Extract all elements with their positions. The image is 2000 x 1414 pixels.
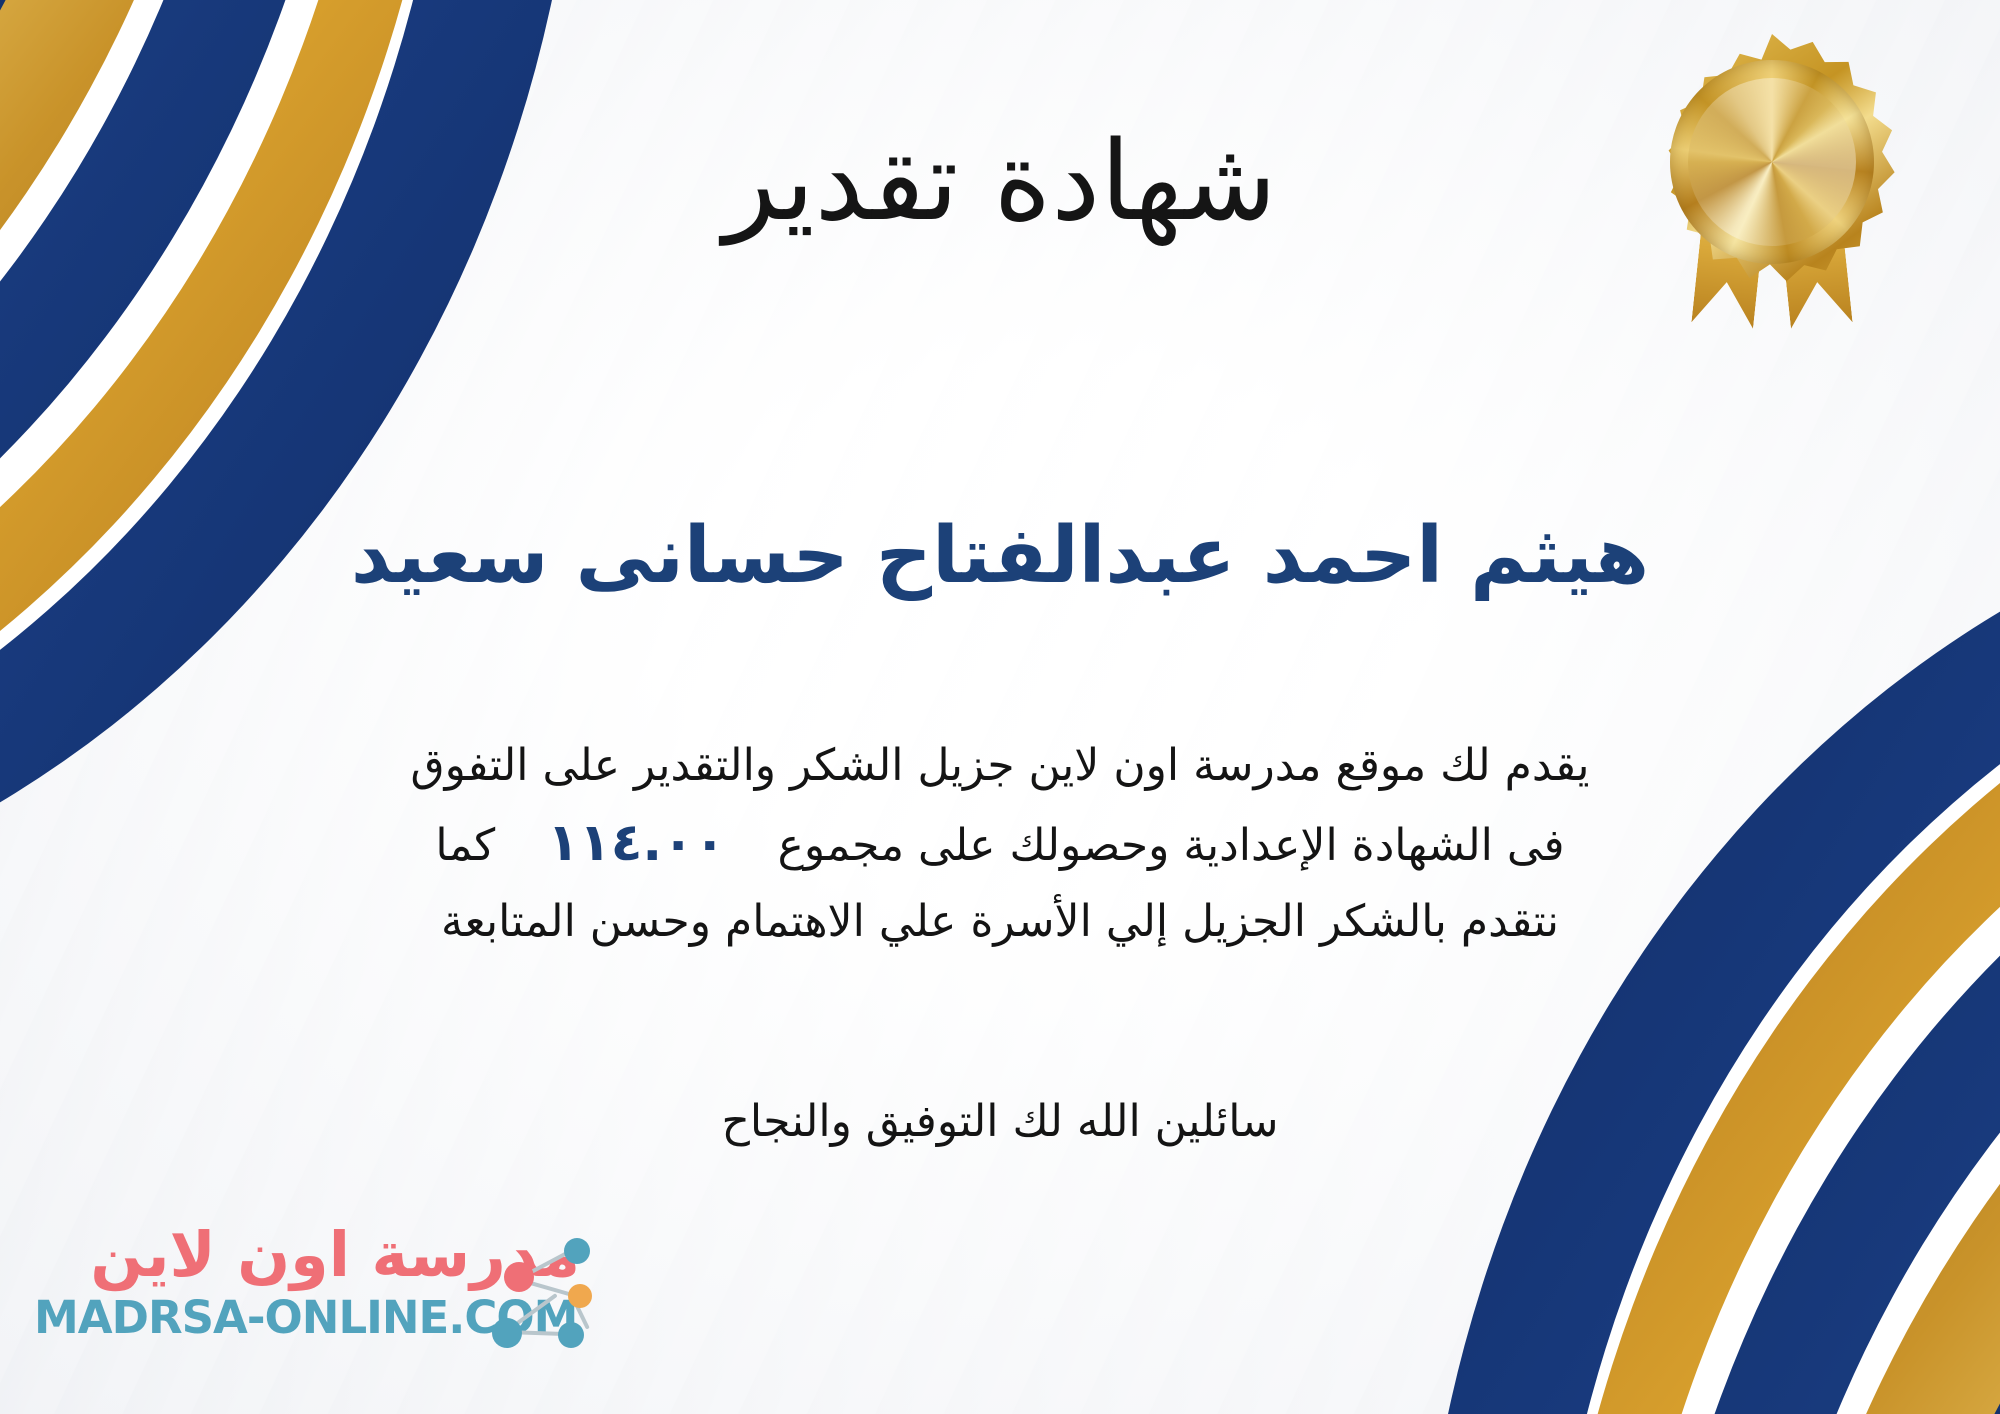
certificate-content: شهادة تقدير هيثم احمد عبدالفتاح حسانى سع… <box>0 0 2000 1414</box>
body-line-2-prefix: فى الشهادة الإعدادية وحصولك على مجموع <box>778 820 1565 871</box>
logo-node <box>558 1322 584 1348</box>
logo-node <box>568 1284 592 1308</box>
page-title: شهادة تقدير <box>0 118 2000 245</box>
site-logo[interactable]: مدرسة اون لاين MADRSA-ONLINE.COM <box>28 1222 588 1392</box>
body-line-2-suffix: كما <box>435 820 495 871</box>
body-line-1: يقدم لك موقع مدرسة اون لاين جزيل الشكر و… <box>60 730 1940 801</box>
closing-wish-line: سائلين الله لك التوفيق والنجاح <box>0 1096 2000 1147</box>
certificate-page: شهادة تقدير هيثم احمد عبدالفتاح حسانى سع… <box>0 0 2000 1414</box>
certificate-body-text: يقدم لك موقع مدرسة اون لاين جزيل الشكر و… <box>60 730 1940 957</box>
network-nodes-icon <box>486 1236 598 1354</box>
body-line-3: نتقدم بالشكر الجزيل إلي الأسرة علي الاهت… <box>60 886 1940 957</box>
body-line-2: فى الشهادة الإعدادية وحصولك على مجموع ١١… <box>60 801 1940 885</box>
logo-node <box>504 1262 534 1292</box>
logo-node <box>492 1318 522 1348</box>
logo-node <box>564 1238 590 1264</box>
grade-total-value: ١١٤.٠٠ <box>509 813 763 873</box>
recipient-name: هيثم احمد عبدالفتاح حسانى سعيد <box>0 510 2000 604</box>
